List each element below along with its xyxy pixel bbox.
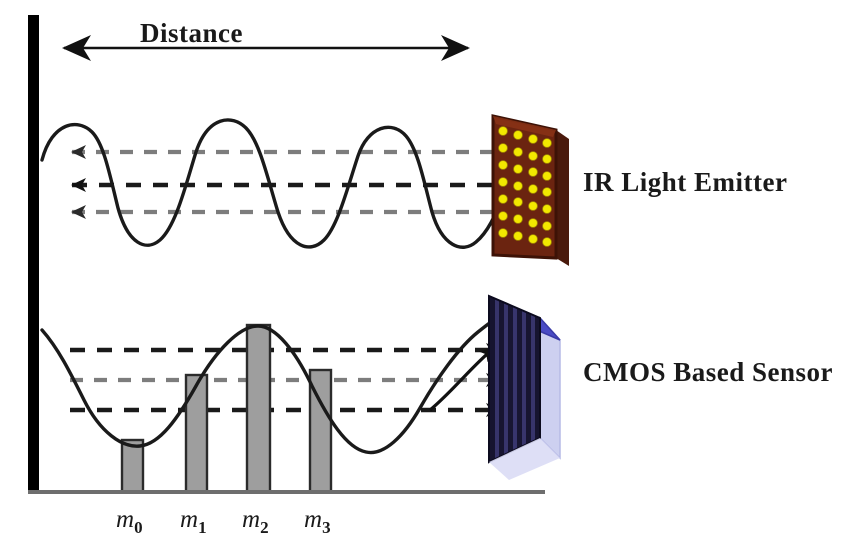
received-wave	[42, 314, 503, 453]
sample-bar-m0	[122, 440, 143, 492]
wall-surface	[28, 15, 39, 492]
sample-label-m1: m1	[180, 506, 207, 538]
sample-label-m2: m2	[242, 506, 269, 538]
ir-led-panel-icon	[493, 116, 569, 266]
cmos-based-sensor-label: CMOS Based Sensor	[583, 357, 833, 388]
sample-label-m0: m0	[116, 506, 143, 538]
sample-label-m3: m3	[304, 506, 331, 538]
sample-bar-m1	[186, 375, 207, 492]
cmos-sensor-panel-icon	[489, 296, 560, 480]
distance-label: Distance	[140, 18, 243, 49]
sample-bar-m2	[247, 325, 270, 492]
ir-light-emitter-label: IR Light Emitter	[583, 167, 787, 198]
emitter-ray-lines	[72, 152, 505, 212]
diagram-canvas: Distance IR Light Emitter CMOS Based Sen…	[0, 0, 867, 560]
diagram-svg	[0, 0, 867, 560]
